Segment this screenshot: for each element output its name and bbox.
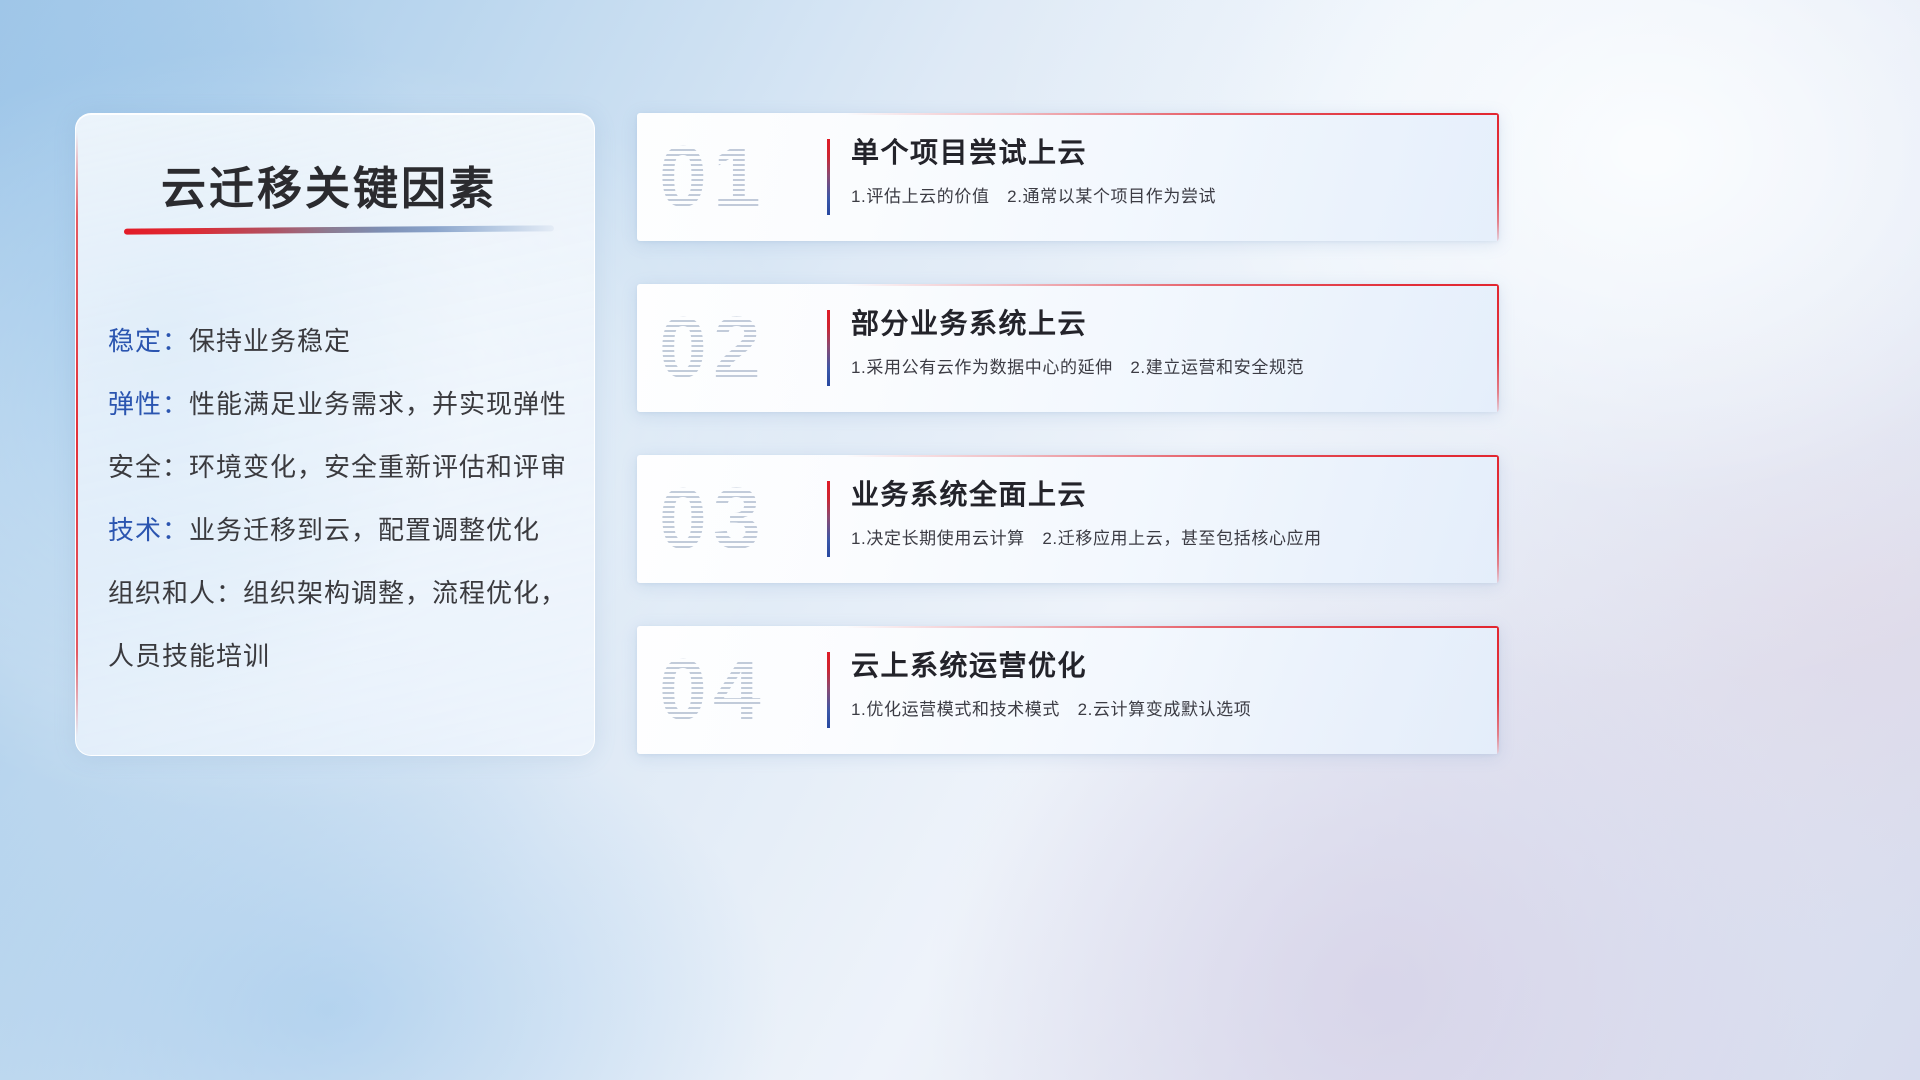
- stage-card[interactable]: 04 云上系统运营优化 1.优化运营模式和技术模式 2.云计算变成默认选项: [637, 626, 1499, 754]
- stage-number: 01: [659, 134, 767, 220]
- card-top-accent-rule: [637, 113, 1499, 115]
- migration-stage-cards: 01 单个项目尝试上云 1.评估上云的价值 2.通常以某个项目作为尝试 02 部…: [637, 113, 1499, 754]
- card-top-accent-rule: [637, 284, 1499, 286]
- list-item: 弹性：性能满足业务需求，并实现弹性: [108, 373, 578, 436]
- list-item-text: 组织架构调整，流程优化，: [243, 578, 567, 608]
- list-item-text: 性能满足业务需求，并实现弹性: [189, 389, 567, 419]
- background-glow-bottom: [0, 700, 780, 1080]
- card-right-accent-rule: [1497, 113, 1499, 241]
- card-title: 业务系统全面上云: [851, 477, 1481, 512]
- card-divider-rule: [827, 652, 830, 728]
- card-body: 云上系统运营优化 1.优化运营模式和技术模式 2.云计算变成默认选项: [851, 648, 1481, 720]
- card-title: 云上系统运营优化: [851, 648, 1481, 683]
- slide-canvas: 云迁移关键因素 稳定：保持业务稳定 弹性：性能满足业务需求，并实现弹性 安全：环…: [0, 0, 1920, 1080]
- card-subtitle: 1.优化运营模式和技术模式 2.云计算变成默认选项: [851, 695, 1481, 720]
- list-item: 稳定：保持业务稳定: [108, 310, 578, 373]
- title-gradient-rule: [124, 225, 554, 234]
- card-right-accent-rule: [1497, 455, 1499, 583]
- card-body: 单个项目尝试上云 1.评估上云的价值 2.通常以某个项目作为尝试: [851, 135, 1481, 207]
- list-item-label: 组织和人：: [108, 578, 243, 608]
- key-factors-panel: 云迁移关键因素 稳定：保持业务稳定 弹性：性能满足业务需求，并实现弹性 安全：环…: [75, 113, 595, 756]
- card-body: 业务系统全面上云 1.决定长期使用云计算 2.迁移应用上云，甚至包括核心应用: [851, 477, 1481, 549]
- stage-card[interactable]: 02 部分业务系统上云 1.采用公有云作为数据中心的延伸 2.建立运营和安全规范: [637, 284, 1499, 412]
- list-item-text: 业务迁移到云，配置调整优化: [189, 515, 540, 545]
- card-top-accent-rule: [637, 455, 1499, 457]
- card-divider-rule: [827, 481, 830, 557]
- list-item: 组织和人：组织架构调整，流程优化，: [108, 562, 578, 625]
- stage-number: 04: [659, 647, 767, 733]
- stage-card[interactable]: 03 业务系统全面上云 1.决定长期使用云计算 2.迁移应用上云，甚至包括核心应…: [637, 455, 1499, 583]
- panel-left-accent-bar: [76, 132, 78, 737]
- list-item: 安全：环境变化，安全重新评估和评审: [108, 436, 578, 499]
- card-subtitle: 1.采用公有云作为数据中心的延伸 2.建立运营和安全规范: [851, 353, 1481, 378]
- list-item-text: 保持业务稳定: [189, 326, 351, 356]
- page-title: 云迁移关键因素: [161, 152, 497, 217]
- list-item-label: 弹性：: [108, 389, 189, 419]
- card-right-accent-rule: [1497, 284, 1499, 412]
- card-subtitle: 1.决定长期使用云计算 2.迁移应用上云，甚至包括核心应用: [851, 524, 1481, 549]
- list-item-text: 人员技能培训: [108, 641, 270, 671]
- stage-number: 02: [659, 305, 767, 391]
- list-item-label: 技术：: [108, 515, 189, 545]
- list-item-label: 安全：: [108, 452, 189, 482]
- card-subtitle: 1.评估上云的价值 2.通常以某个项目作为尝试: [851, 182, 1481, 207]
- card-top-accent-rule: [637, 626, 1499, 628]
- list-item: 技术：业务迁移到云，配置调整优化: [108, 499, 578, 562]
- card-divider-rule: [827, 310, 830, 386]
- card-body: 部分业务系统上云 1.采用公有云作为数据中心的延伸 2.建立运营和安全规范: [851, 306, 1481, 378]
- list-item: 人员技能培训: [108, 625, 578, 688]
- card-divider-rule: [827, 139, 830, 215]
- stage-card[interactable]: 01 单个项目尝试上云 1.评估上云的价值 2.通常以某个项目作为尝试: [637, 113, 1499, 241]
- list-item-label: 稳定：: [108, 326, 189, 356]
- list-item-text: 环境变化，安全重新评估和评审: [189, 452, 567, 482]
- card-title: 单个项目尝试上云: [851, 135, 1481, 170]
- key-factors-list: 稳定：保持业务稳定 弹性：性能满足业务需求，并实现弹性 安全：环境变化，安全重新…: [108, 310, 578, 688]
- card-right-accent-rule: [1497, 626, 1499, 754]
- card-title: 部分业务系统上云: [851, 306, 1481, 341]
- stage-number: 03: [659, 476, 767, 562]
